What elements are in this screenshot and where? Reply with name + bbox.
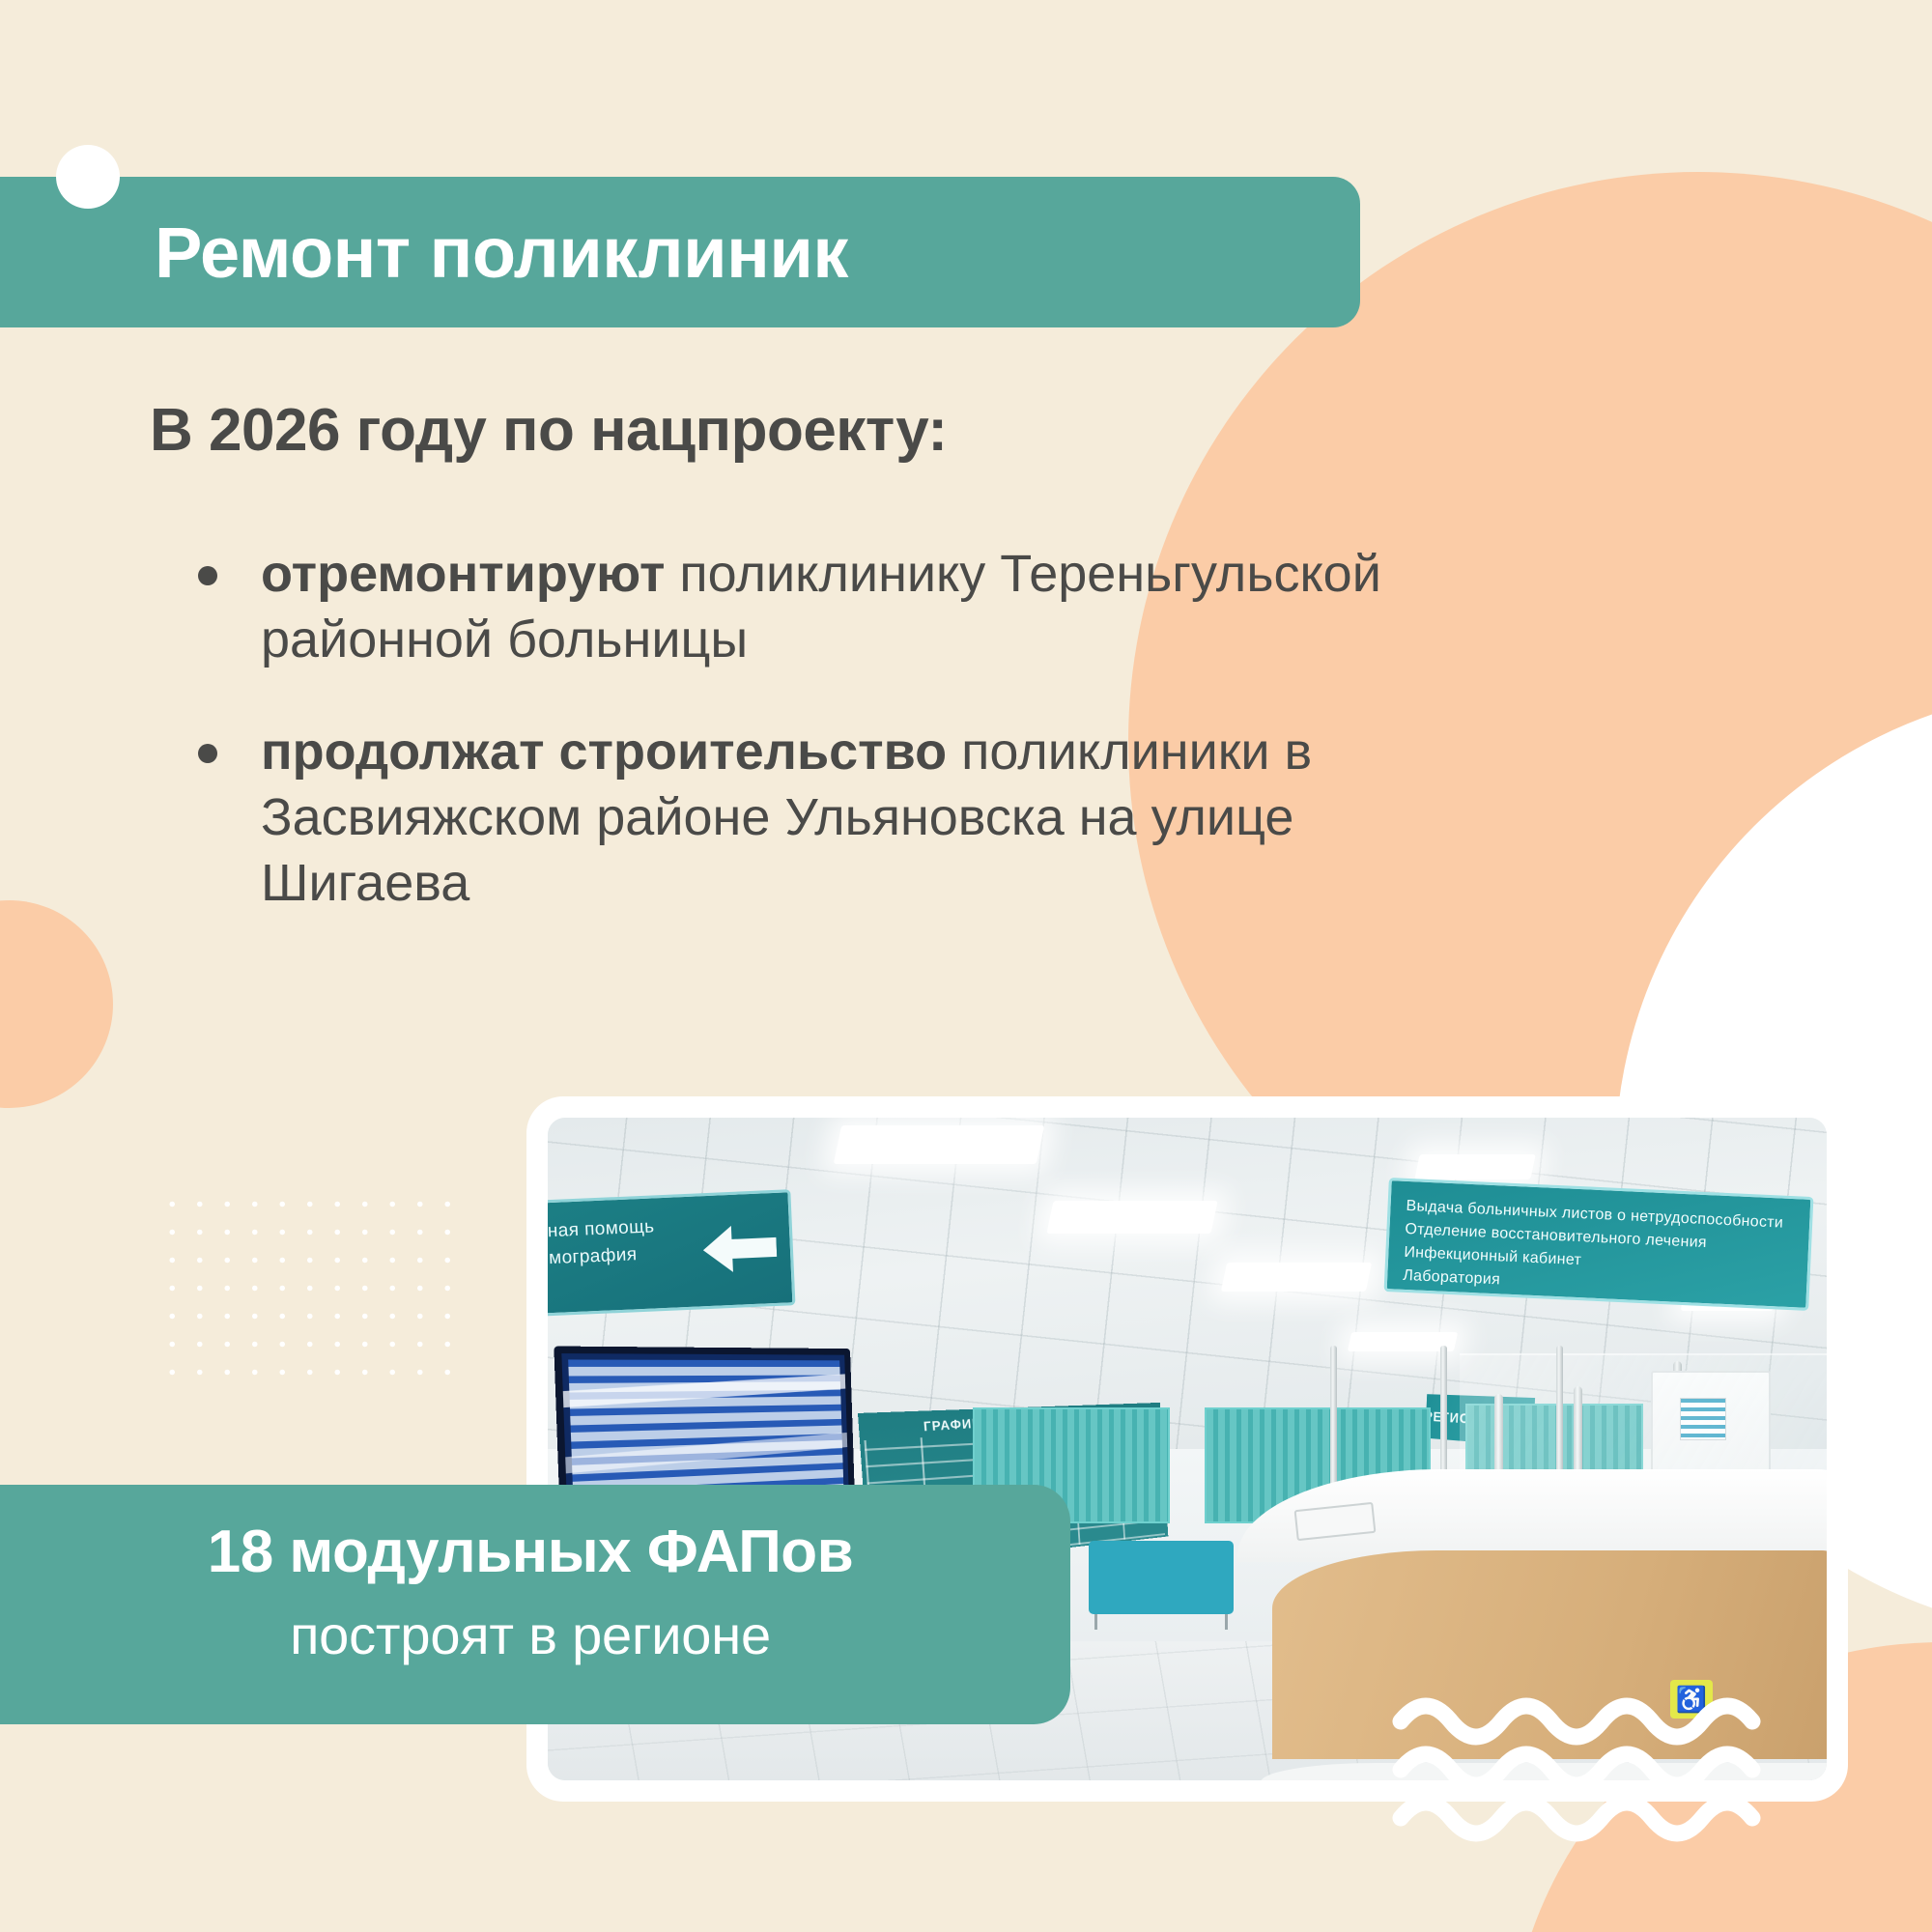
ceiling-lamp — [834, 1125, 1045, 1164]
poster-canvas: Ремонт поликлиник В 2026 году по нацпрое… — [0, 0, 1932, 1932]
lead-text: В 2026 году по нацпроекту: — [150, 396, 948, 465]
bullet-bold-text: отремонтируют — [261, 545, 665, 603]
left-arrow-icon — [702, 1220, 778, 1277]
stat-banner-line-1: 18 модульных ФАПов — [0, 1518, 1070, 1586]
stat-banner: 18 модульных ФАПов построят в регионе — [0, 1485, 1070, 1724]
wave-decor — [1391, 1692, 1797, 1886]
list-item: отремонтируют поликлинику Тереньгульской… — [179, 541, 1396, 672]
stat-banner-line-2: построят в регионе — [0, 1604, 1070, 1666]
page-title: Ремонт поликлиник — [155, 212, 848, 294]
reception-slot — [1294, 1502, 1377, 1541]
direction-sign: ная помощь мография — [548, 1189, 795, 1317]
reception-desk-top — [1237, 1469, 1827, 1562]
header-banner: Ремонт поликлиник — [0, 177, 1360, 327]
bullet-list: отремонтируют поликлинику Тереньгульской… — [179, 541, 1396, 962]
department-list-sign: Выдача больничных листов о нетрудоспособ… — [1384, 1178, 1814, 1311]
dot-grid-decor — [155, 1186, 454, 1384]
peach-circle-left-decor — [0, 900, 113, 1108]
header-dot-decor — [56, 145, 120, 209]
list-item: продолжат строительство поликлиники в За… — [179, 719, 1396, 916]
ceiling-lamp — [1414, 1154, 1536, 1179]
waiting-sofa — [1089, 1541, 1234, 1614]
bullet-bold-text: продолжат строительство — [261, 723, 947, 781]
ceiling-lamp — [1046, 1201, 1217, 1234]
ceiling-lamp — [1221, 1263, 1372, 1292]
